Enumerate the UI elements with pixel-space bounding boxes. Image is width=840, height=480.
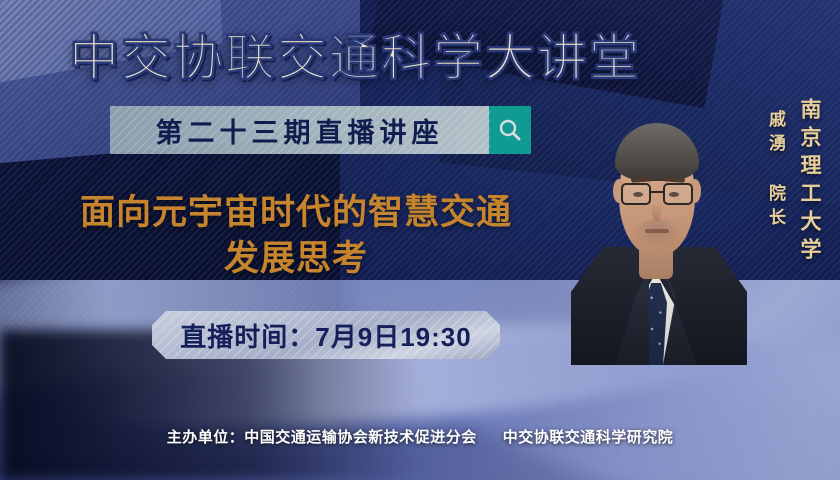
glasses-lens-left bbox=[621, 183, 651, 205]
headline-line-2: 发展思考 bbox=[46, 236, 546, 282]
portrait-mouth bbox=[645, 229, 669, 233]
glasses-bridge bbox=[651, 191, 663, 193]
episode-banner: 第二十三期直播讲座 bbox=[110, 106, 531, 154]
portrait-hair bbox=[615, 123, 699, 181]
schedule-text: 直播时间：7月9日19:30 bbox=[180, 317, 471, 354]
headline-line-1: 面向元宇宙时代的智慧交通 bbox=[80, 193, 512, 232]
speaker-portrait bbox=[575, 95, 735, 365]
speaker-organization: 南京理工大学 bbox=[794, 98, 824, 266]
episode-label: 第二十三期直播讲座 bbox=[156, 111, 444, 150]
organizer-label: 主办单位： bbox=[167, 429, 245, 446]
live-stream-poster: 中交协联交通科学大讲堂 第二十三期直播讲座 面向元宇宙时代的智慧交通 发展思考 … bbox=[0, 0, 840, 480]
glasses-lens-right bbox=[663, 183, 693, 205]
organizer-name-2: 中交协联交通科学研究院 bbox=[503, 429, 674, 446]
organizer-name-1: 中国交通运输协会新技术促进分会 bbox=[244, 429, 477, 446]
lecture-headline: 面向元宇宙时代的智慧交通 发展思考 bbox=[46, 190, 546, 282]
episode-banner-fill: 第二十三期直播讲座 bbox=[110, 106, 489, 154]
search-icon[interactable] bbox=[489, 106, 531, 154]
schedule-badge: 直播时间：7月9日19:30 bbox=[152, 311, 500, 359]
organizer-footer: 主办单位：中国交通运输协会新技术促进分会中交协联交通科学研究院 bbox=[0, 426, 840, 447]
speaker-name-title: 戚湧 院长 bbox=[763, 110, 788, 232]
portrait-chin-shading bbox=[633, 219, 681, 249]
page-title: 中交协联交通科学大讲堂 bbox=[0, 18, 840, 90]
